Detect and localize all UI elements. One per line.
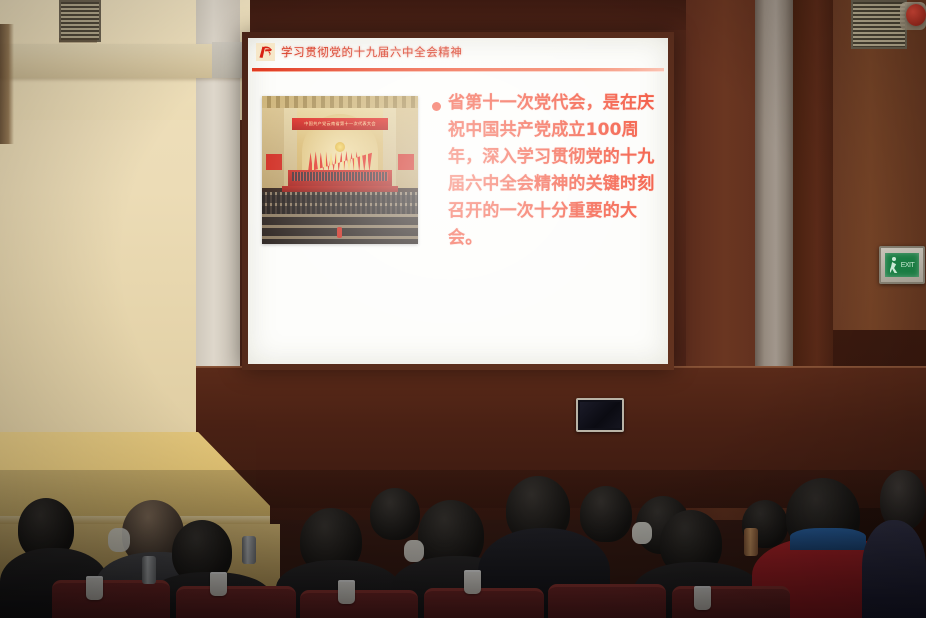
wall-air-vent-shadow <box>59 38 97 43</box>
cpc-party-emblem-icon <box>256 43 275 61</box>
paper-cup <box>464 570 481 594</box>
attendee-face-mask <box>404 540 424 562</box>
slide-body: 中国共产党云南省第十一次代表大会 省第十一次党代会，是在庆祝中国共产党成立100… <box>248 80 668 252</box>
photo-presidium-delegates <box>292 172 388 181</box>
auditorium-seat <box>672 586 790 618</box>
paper-cup <box>210 572 227 596</box>
ceiling-air-vent-icon <box>851 0 907 49</box>
running-man-icon <box>890 257 899 273</box>
auditorium-seat <box>548 584 666 618</box>
attendee-shoulders <box>862 520 926 618</box>
slide-body-text: 省第十一次党代会，是在庆祝中国共产党成立100周年，深入学习贯彻党的十九届六中全… <box>448 90 660 252</box>
exit-sign-label: EXIT <box>901 262 915 269</box>
wall-control-panel-screen <box>580 402 620 428</box>
projection-screen-frame: 学习贯彻党的十九届六中全会精神 中国共产党云南省第十一次代表大会 <box>242 32 674 370</box>
slide-header: 学习贯彻党的十九届六中全会精神 <box>248 38 668 66</box>
thermos-flask <box>142 556 156 584</box>
photo-gold-emblem-icon <box>335 142 345 152</box>
photo-congress-banner: 中国共产党云南省第十一次代表大会 <box>292 118 388 130</box>
paper-cup <box>86 576 103 600</box>
congress-photo: 中国共产党云南省第十一次代表大会 <box>262 96 418 244</box>
slide-bullet-icon <box>432 102 441 111</box>
slide-header-divider-highlight <box>252 71 664 72</box>
auditorium-seat <box>176 586 296 618</box>
paper-cup <box>694 586 711 610</box>
photo-side-screen-right <box>398 154 414 170</box>
paper-cup <box>338 580 355 604</box>
red-dome-light-icon <box>906 4 926 26</box>
wall-air-vent-icon <box>59 0 101 42</box>
attendee-collar <box>790 528 866 550</box>
emergency-exit-sign: EXIT <box>879 246 925 284</box>
thermos-flask <box>744 528 758 556</box>
attendee-face-mask <box>632 522 652 544</box>
attendee-face-mask <box>108 528 130 552</box>
wall-ledge-end-cap <box>212 42 244 78</box>
exit-sign-face: EXIT <box>885 253 919 277</box>
photo-side-screen-left <box>266 154 282 170</box>
conference-hall-scene: EXIT 学习贯彻党的十九届六中全会精神 <box>0 0 926 618</box>
wall-edge-shadow <box>0 24 14 144</box>
auditorium-seat <box>424 588 544 618</box>
slide-title: 学习贯彻党的十九届六中全会精神 <box>281 44 463 60</box>
photo-audience-heads <box>262 192 418 214</box>
wall-control-panel[interactable] <box>576 398 624 432</box>
wall-ledge <box>0 44 244 78</box>
auditorium-seat <box>300 590 418 618</box>
photo-banner-text: 中国共产党云南省第十一次代表大会 <box>304 121 376 127</box>
attendee-head <box>370 488 420 540</box>
photo-aisle-figure <box>337 227 342 238</box>
projection-screen-surface: 学习贯彻党的十九届六中全会精神 中国共产党云南省第十一次代表大会 <box>248 38 668 364</box>
attendee-head <box>580 486 632 542</box>
slide-text-block: 省第十一次党代会，是在庆祝中国共产党成立100周年，深入学习贯彻党的十九届六中全… <box>432 90 660 252</box>
thermos-flask <box>242 536 256 564</box>
auditorium-seat <box>52 580 170 618</box>
